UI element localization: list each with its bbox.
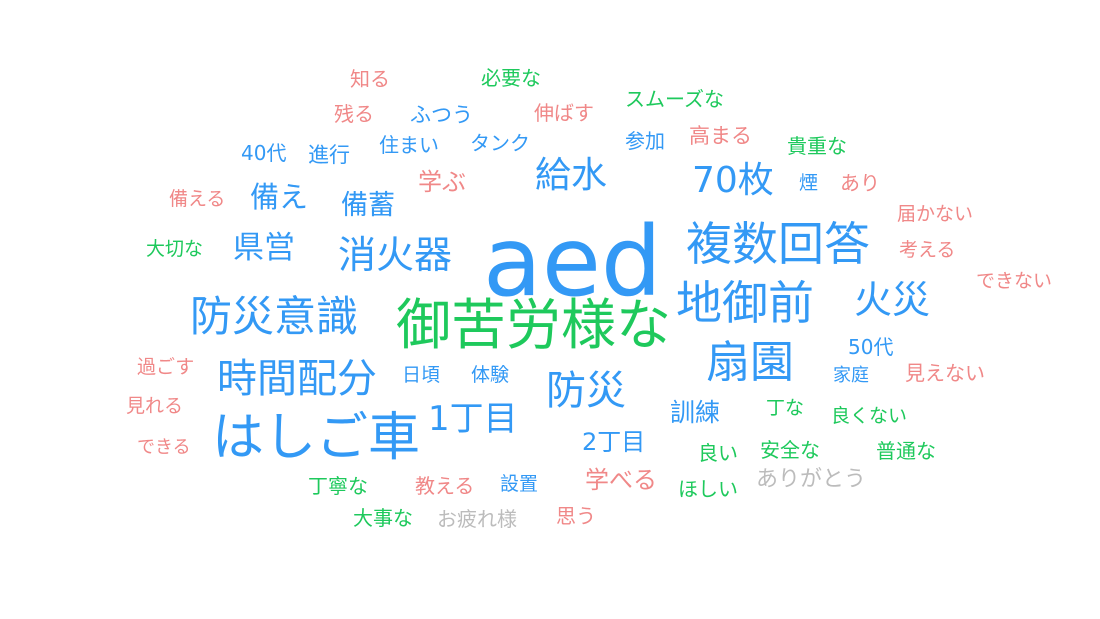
word-cloud-term: 考える	[899, 241, 955, 260]
word-cloud-term: 備える	[169, 190, 225, 209]
word-cloud-term: 訓練	[670, 400, 720, 425]
word-cloud-term: 複数回答	[686, 221, 870, 267]
word-cloud-term: 高まる	[689, 126, 752, 147]
word-cloud-term: 見えない	[905, 363, 985, 383]
word-cloud-term: 体験	[471, 366, 509, 385]
word-cloud-term: 貴重な	[787, 136, 847, 156]
word-cloud-term: 知る	[350, 69, 390, 89]
word-cloud-term: 必要な	[481, 68, 541, 88]
word-cloud-term: 丁な	[766, 399, 804, 418]
word-cloud-term: 参加	[625, 131, 665, 151]
word-cloud-term: はしご車	[212, 412, 420, 464]
word-cloud-term: 良い	[698, 443, 738, 463]
word-cloud-term: 消火器	[338, 236, 452, 274]
word-cloud-term: ふつう	[410, 105, 473, 126]
word-cloud-term: 学べる	[585, 468, 657, 492]
word-cloud-term: 扇園	[706, 341, 794, 385]
word-cloud-term: 届かない	[897, 205, 973, 224]
word-cloud-term: 家庭	[833, 367, 869, 385]
word-cloud-term: 大切な	[146, 240, 203, 259]
word-cloud-canvas: aed御苦労様なはしご車複数回答地御前防災意識時間配分扇園消火器防災火災給水70…	[0, 0, 1100, 619]
word-cloud-term: できる	[137, 439, 191, 457]
word-cloud-term: 備蓄	[341, 192, 395, 219]
word-cloud-term: 安全な	[760, 440, 820, 460]
word-cloud-term: タンク	[470, 133, 530, 153]
word-cloud-term: 伸ばす	[534, 103, 594, 123]
word-cloud-term: 教える	[415, 476, 474, 496]
word-cloud-term: 設置	[500, 475, 538, 494]
word-cloud-term: 防災	[546, 371, 626, 411]
word-cloud-term: 2丁目	[582, 430, 645, 454]
word-cloud-term: 時間配分	[217, 359, 377, 399]
word-cloud-term: 住まい	[379, 135, 439, 155]
word-cloud-term: お疲れ様	[437, 509, 517, 529]
word-cloud-term: 普通な	[876, 441, 936, 461]
word-cloud-term: 御苦労様な	[396, 298, 671, 353]
word-cloud-term: 良くない	[831, 407, 907, 426]
word-cloud-term: 見れる	[126, 397, 183, 416]
word-cloud-term: 残る	[334, 104, 374, 124]
word-cloud-term: 火災	[854, 281, 930, 319]
word-cloud-term: 給水	[535, 158, 607, 194]
word-cloud-term: 70枚	[692, 163, 774, 199]
word-cloud-term: 学ぶ	[418, 170, 466, 194]
word-cloud-term: ほしい	[678, 479, 738, 499]
word-cloud-term: 防災意識	[190, 296, 358, 338]
word-cloud-term: 県営	[233, 233, 295, 264]
word-cloud-term: 思う	[556, 506, 596, 526]
word-cloud-term: あり	[840, 173, 880, 193]
word-cloud-term: 過ごす	[137, 358, 194, 377]
word-cloud-term: 1丁目	[428, 402, 518, 436]
word-cloud-term: スムーズな	[625, 89, 724, 109]
word-cloud-term: 大事な	[353, 508, 413, 528]
word-cloud-term: 40代	[241, 143, 286, 163]
word-cloud-term: 地御前	[676, 280, 814, 326]
word-cloud-term: 煙	[799, 174, 818, 193]
word-cloud-term: ありがとう	[756, 469, 866, 491]
word-cloud-term: できない	[976, 272, 1052, 291]
word-cloud-term: 進行	[308, 145, 350, 166]
word-cloud-term: 備え	[250, 183, 308, 212]
word-cloud-term: 50代	[848, 337, 893, 357]
word-cloud-term: 日頃	[402, 366, 440, 385]
word-cloud-term: 丁寧な	[308, 476, 368, 496]
